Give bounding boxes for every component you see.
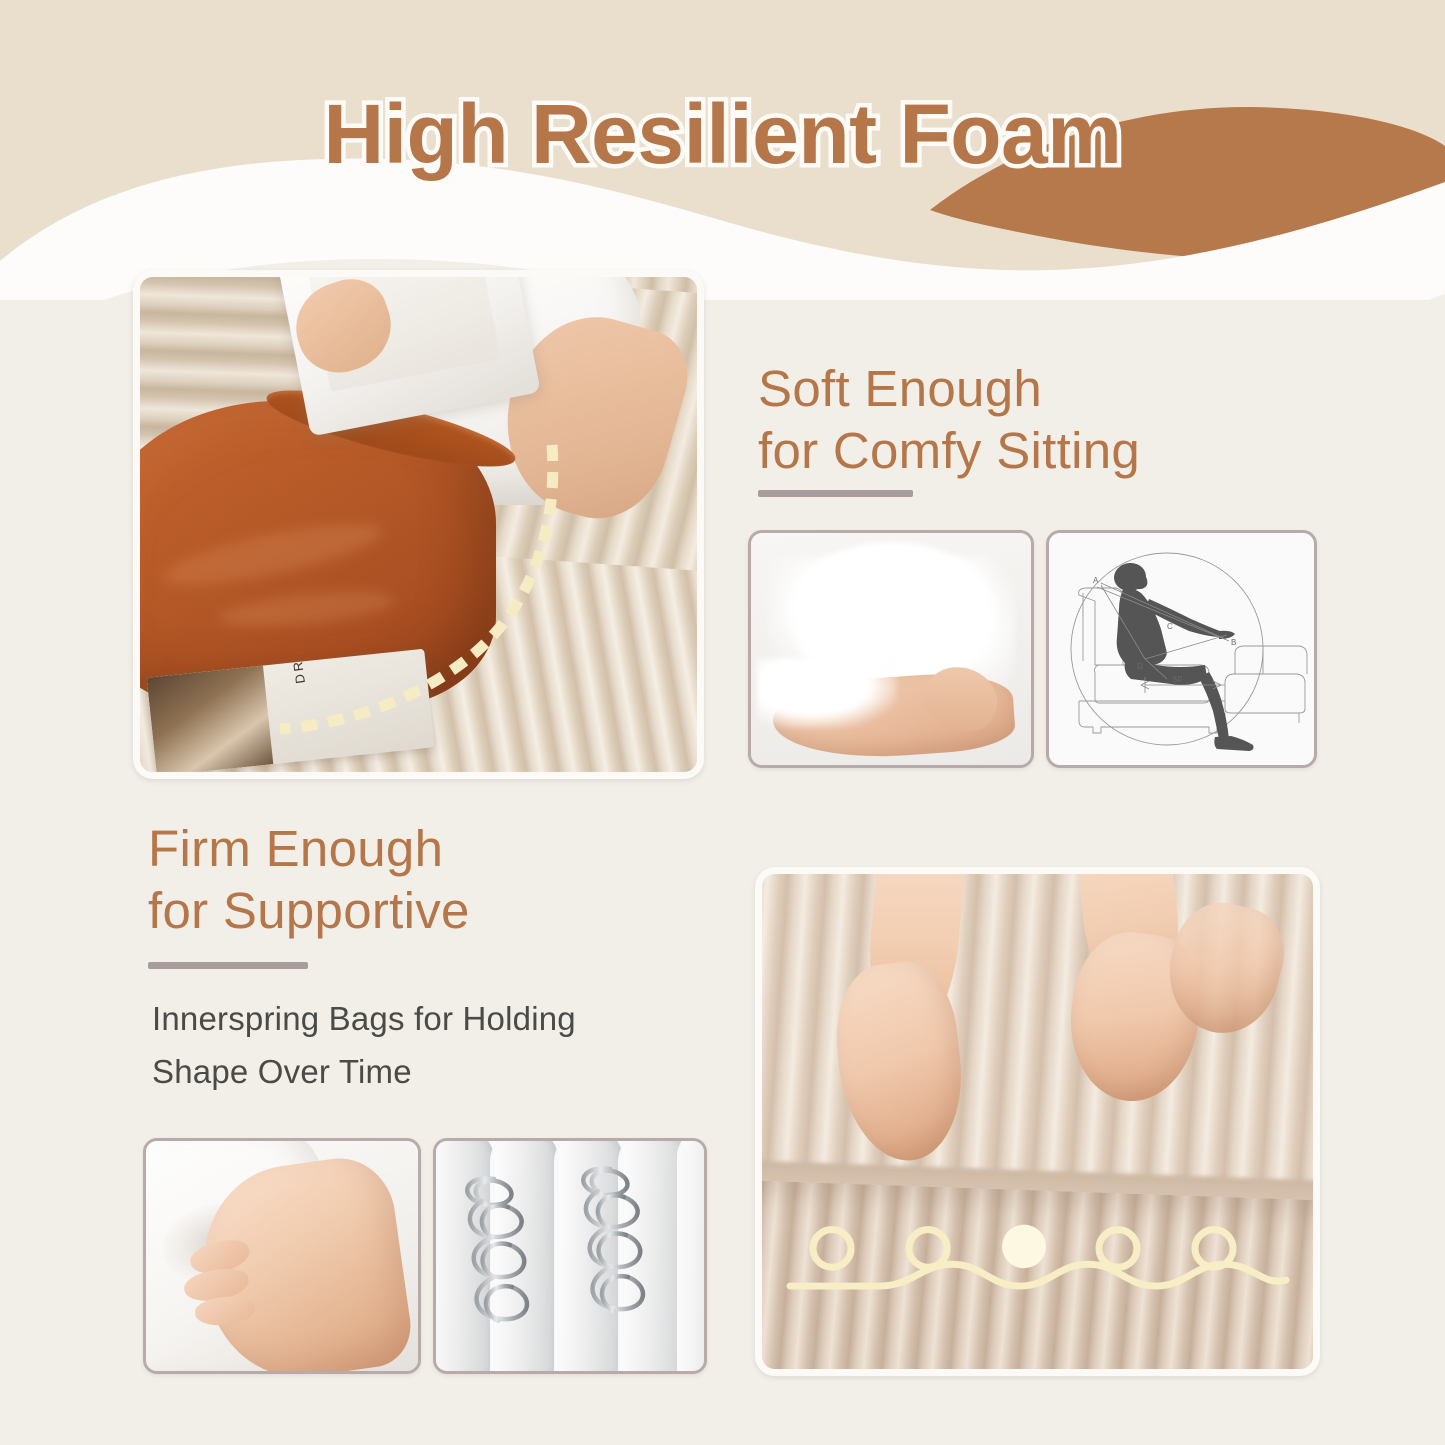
coil-springs-drawing — [436, 1141, 704, 1371]
feet-on-ribbed-cushion-photo — [755, 867, 1320, 1376]
firm-enough-subtext: Innerspring Bags for Holding Shape Over … — [152, 992, 752, 1099]
firm-enough-heading: Firm Enough for Supportive — [148, 818, 768, 942]
diagram-label-d: D — [1137, 662, 1143, 671]
ergonomic-diagram-drawing: A B C D 50 — [1049, 533, 1314, 765]
firm-enough-rule — [148, 962, 308, 969]
soft-enough-rule — [758, 490, 913, 497]
ergonomic-diagram-photo: A B C D 50 — [1046, 530, 1317, 768]
cushion-front-face — [762, 1179, 1313, 1369]
diagram-label-50: 50 — [1173, 675, 1182, 684]
pocket-spring-photo — [433, 1138, 707, 1374]
infographic-page: High Resilient Foam DREAMING So — [0, 0, 1445, 1445]
fiberfill-foreground — [757, 658, 897, 728]
foam-press-photo — [143, 1138, 421, 1374]
soft-enough-heading: Soft Enough for Comfy Sitting — [758, 358, 1358, 482]
magazine-cover-photo — [147, 666, 274, 772]
diagram-label-c: C — [1167, 622, 1173, 631]
diagram-label-b: B — [1231, 638, 1236, 647]
fiberfill-photo — [748, 530, 1034, 768]
diagram-label-a: A — [1093, 576, 1099, 585]
page-title: High Resilient Foam — [0, 86, 1445, 183]
person-reading-on-sofa-photo: DREAMING — [133, 270, 704, 779]
